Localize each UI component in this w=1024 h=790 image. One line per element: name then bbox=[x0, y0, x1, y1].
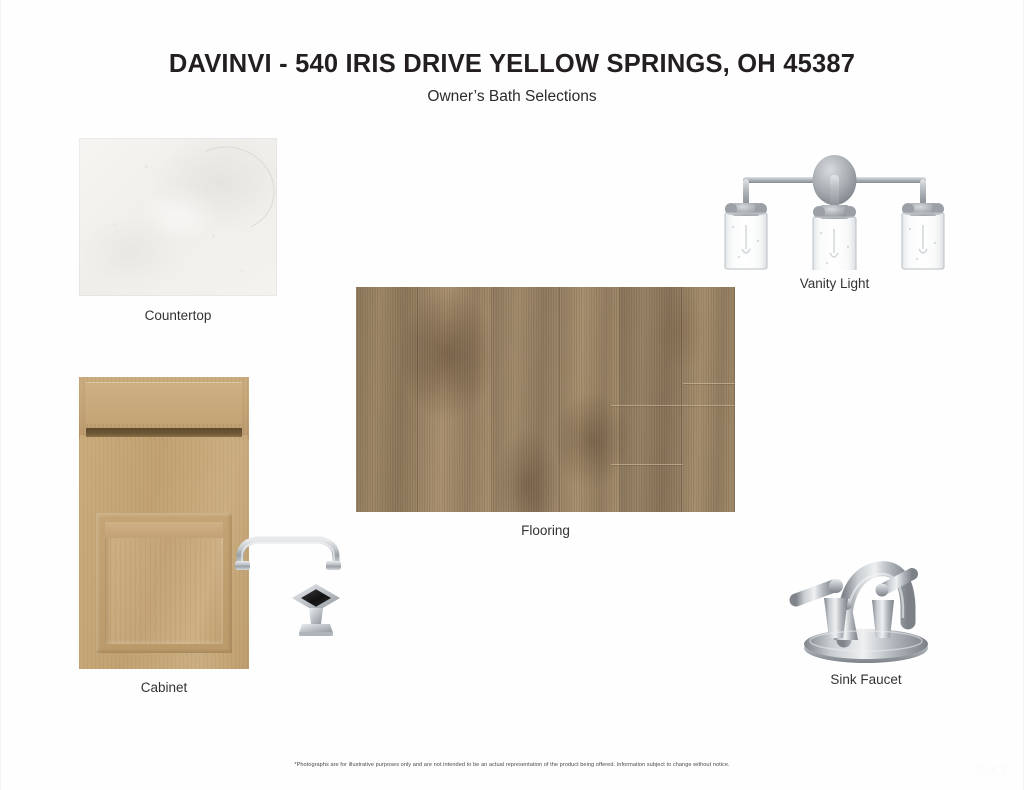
cabinet-pull-icon bbox=[234, 531, 342, 573]
selection-vanity-light[interactable]: Vanity Light bbox=[713, 155, 956, 270]
cabinet-label: Cabinet bbox=[79, 680, 249, 695]
cabinet-drawer-front bbox=[79, 377, 249, 435]
cabinet-shadow-gap bbox=[86, 428, 242, 437]
page-title: DAVINVI - 540 IRIS DRIVE YELLOW SPRINGS,… bbox=[1, 50, 1023, 79]
floor-plank-seam bbox=[611, 405, 735, 406]
cabinet-door-rail bbox=[79, 439, 249, 669]
selection-sink-faucet[interactable]: Sink Faucet bbox=[786, 528, 946, 668]
countertop-label: Countertop bbox=[79, 308, 277, 323]
floor-grain-overlay bbox=[356, 287, 735, 512]
vanity-light-icon bbox=[713, 155, 956, 270]
vanity-light-label: Vanity Light bbox=[713, 276, 956, 291]
cabinet-knob-icon bbox=[289, 580, 343, 638]
selection-sheet-page: DAVINVI - 540 IRIS DRIVE YELLOW SPRINGS,… bbox=[0, 0, 1024, 790]
selection-cabinet[interactable]: Cabinet bbox=[79, 377, 249, 669]
floor-plank-seam bbox=[611, 464, 683, 465]
page-header: DAVINVI - 540 IRIS DRIVE YELLOW SPRINGS,… bbox=[1, 50, 1023, 106]
hardware-cabinet-pull[interactable] bbox=[234, 531, 342, 573]
cabinet-drawer-inner bbox=[86, 382, 242, 424]
cabinet-door-icon bbox=[79, 377, 249, 669]
swatch-veining-arc bbox=[171, 135, 286, 244]
wood-plank-icon bbox=[356, 287, 735, 512]
flooring-label: Flooring bbox=[356, 523, 735, 538]
page-subtitle: Owner’s Bath Selections bbox=[1, 88, 1023, 106]
selection-flooring[interactable]: Flooring bbox=[356, 287, 735, 512]
sink-faucet-label: Sink Faucet bbox=[786, 672, 946, 687]
selection-countertop[interactable]: Countertop bbox=[79, 138, 277, 296]
cabinet-panel-arch bbox=[105, 522, 223, 538]
faucet-icon bbox=[786, 528, 946, 668]
floor-plank-seam bbox=[683, 383, 735, 384]
hardware-cabinet-knob[interactable] bbox=[289, 580, 343, 638]
stone-swatch-icon bbox=[79, 138, 277, 296]
cabinet-raised-panel bbox=[96, 513, 232, 653]
watermark: 房天下 bbox=[975, 762, 1011, 778]
disclaimer-text: *Photographs are for illustrative purpos… bbox=[1, 762, 1023, 768]
cabinet-panel-bevel bbox=[105, 522, 223, 644]
